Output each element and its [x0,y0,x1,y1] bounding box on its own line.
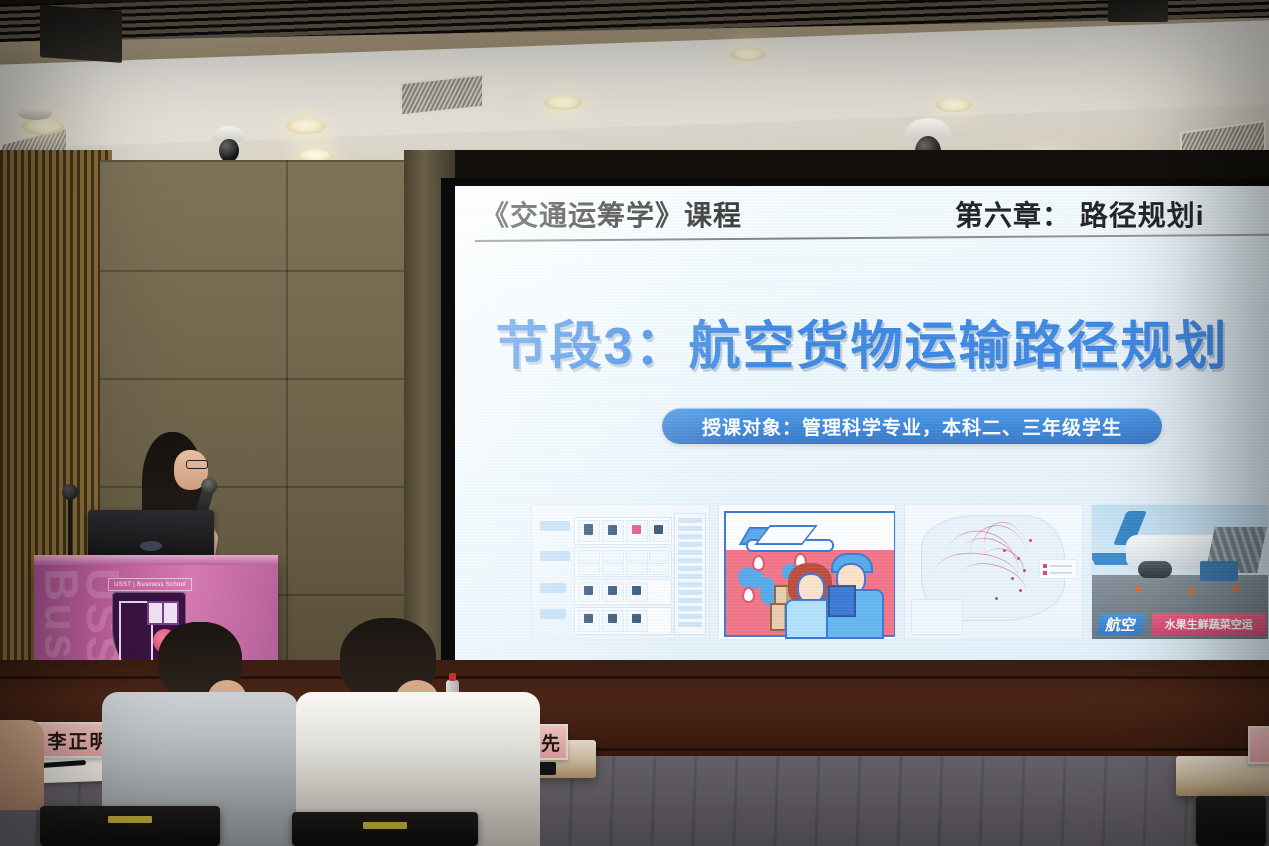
thumbnail-air-logistics-illustration [718,504,897,640]
dome-camera-icon [212,126,246,164]
slide-header-course: 《交通运筹学》课程 [481,194,742,234]
thumbnail-cargo-aircraft-photo: 航空 水果生鲜蔬菜空运 [1091,504,1269,640]
ceiling-downlight-icon [730,47,766,61]
ceiling-downlight-icon [286,118,326,134]
airplane-icon [740,523,832,557]
slide-audience-text: 授课对象：管理科学专业，本科二、三年级学生 [702,413,1122,440]
thumbnail-tech-framework-diagram [531,504,710,640]
slide-title: 节段3：航空货物运输路径规划 [455,304,1269,379]
chair-left [40,806,220,846]
ceiling-speaker-icon [40,5,122,63]
crest-banner-text: USST | Business School [108,578,192,591]
glasses-icon [186,460,208,469]
ceiling-speaker-icon [1108,0,1168,22]
thumbnail-china-air-route-map [904,504,1083,640]
monitor-brand-logo [140,541,162,551]
thumbnail-photo-label: 航空 [1096,613,1146,635]
attendee-edge-left [0,690,48,810]
ceiling-downlight-icon [936,98,972,112]
ceiling-downlight-icon [22,118,64,135]
thumbnail-photo-banner: 水果生鲜蔬菜空运 [1152,613,1267,635]
presentation-screen: 《交通运筹学》课程 第六章： 路径规划i 节段3：航空货物运输路径规划 授课对象… [455,186,1269,666]
chair-mid [292,812,478,846]
smoke-detector-icon [18,108,52,120]
thumbnail-diagram-rail [674,513,706,635]
slide-audience-pill: 授课对象：管理科学专业，本科二、三年级学生 [662,408,1162,444]
ceiling-downlight-icon [544,95,582,110]
slide-thumbnail-row: 航空 水果生鲜蔬菜空运 [531,504,1269,649]
name-card [1248,726,1269,764]
slide-header-chapter: 第六章： 路径规划i [955,194,1205,234]
chair-right [1196,796,1266,846]
map-inset [911,599,963,635]
map-legend [1039,559,1077,579]
lecture-hall-photo: 《交通运筹学》课程 第六章： 路径规划i 节段3：航空货物运输路径规划 授课对象… [0,0,1269,846]
